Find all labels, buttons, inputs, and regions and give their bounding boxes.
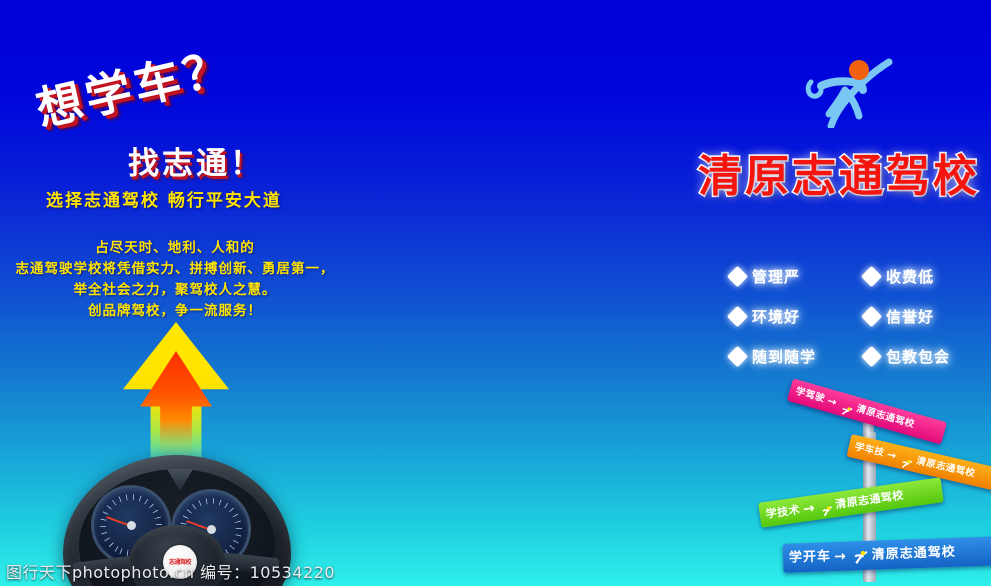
- mini-logo-icon: [841, 400, 855, 413]
- body-copy: 占尽天时、地利、人和的 志通驾驶学校将凭借实力、拼搏创新、勇居第一， 举全社会之…: [0, 238, 350, 322]
- arrow-right-icon: →: [826, 394, 838, 409]
- sign-destination: 清原志通驾校: [872, 547, 956, 560]
- driver-figure-logo-icon: [803, 56, 895, 128]
- body-line: 创品牌驾校，争一流服务！: [0, 301, 350, 322]
- sign-destination: 清原志通驾校: [835, 490, 905, 510]
- gauge-hub: [127, 521, 136, 530]
- sign-blue: 学开车 → 清原志通驾校: [783, 536, 991, 573]
- feature-label: 包教包会: [886, 346, 950, 367]
- feature-item: 收费低: [864, 266, 988, 287]
- feature-label: 环境好: [752, 306, 800, 327]
- gauge-hub: [207, 525, 216, 534]
- sign-text: 学开车: [789, 552, 831, 563]
- feature-label: 收费低: [886, 266, 934, 287]
- body-line: 志通驾驶学校将凭借实力、拼搏创新、勇居第一，: [0, 259, 350, 280]
- feature-label: 随到随学: [752, 346, 816, 367]
- watermark: 图行天下photophoto.cn 编号：10534220: [6, 559, 335, 583]
- mini-logo-icon: [852, 548, 869, 563]
- feature-label: 管理严: [752, 266, 800, 287]
- headline-slogan: 选择志通驾校 畅行平安大道: [46, 186, 282, 211]
- feature-item: 管理严: [730, 266, 854, 287]
- arrow-right-icon: →: [834, 548, 846, 564]
- sign-text: 学技术: [765, 505, 801, 520]
- feature-item: 包教包会: [864, 346, 988, 367]
- arrow-right-icon: →: [802, 500, 816, 517]
- sign-text: 学驾驶: [794, 386, 826, 404]
- diamond-bullet-icon: [861, 346, 882, 367]
- diamond-bullet-icon: [861, 306, 882, 327]
- arrow-right-icon: →: [886, 448, 898, 463]
- diamond-bullet-icon: [727, 306, 748, 327]
- body-line: 举全社会之力，聚驾校人之慧。: [0, 280, 350, 301]
- feature-label: 信誉好: [886, 306, 934, 327]
- body-line: 占尽天时、地利、人和的: [0, 238, 350, 259]
- diamond-bullet-icon: [861, 266, 882, 287]
- mini-logo-icon: [901, 453, 915, 465]
- sign-green: 学技术 → 清原志通驾校: [758, 477, 944, 527]
- feature-item: 信誉好: [864, 306, 988, 327]
- diamond-bullet-icon: [727, 346, 748, 367]
- sign-destination: 清原志通驾校: [915, 456, 976, 479]
- feature-item: 随到随学: [730, 346, 854, 367]
- mini-logo-icon: [820, 500, 833, 512]
- headline-main: 想学车？: [29, 30, 239, 139]
- diamond-bullet-icon: [727, 266, 748, 287]
- signpost-icon: 学驾驶 → 清原志通驾校 学车技 → 清原志通驾校: [755, 388, 991, 586]
- brand-name: 清原志通驾校: [694, 140, 984, 204]
- feature-item: 环境好: [730, 306, 854, 327]
- feature-list: 管理严 收费低 环境好 信誉好 随到随学 包教包会: [730, 266, 988, 367]
- headline-sub: 找志通！: [128, 138, 264, 183]
- sign-text: 学车技: [854, 442, 885, 458]
- up-arrow-icon: [123, 322, 229, 462]
- poster-canvas: 想学车？ 找志通！ 选择志通驾校 畅行平安大道 占尽天时、地利、人和的 志通驾驶…: [0, 0, 991, 586]
